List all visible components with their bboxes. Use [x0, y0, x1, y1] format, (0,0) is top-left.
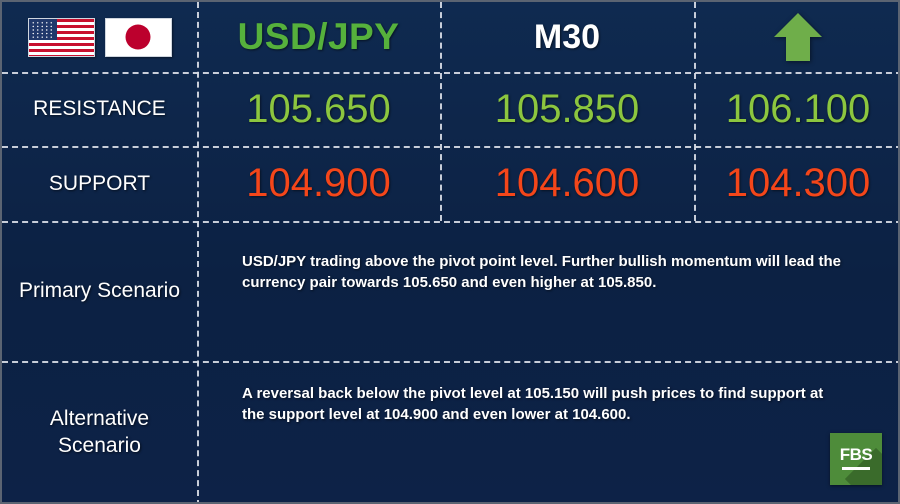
resistance-value: 106.100: [726, 87, 871, 132]
primary-scenario-label-cell: Primary Scenario: [2, 221, 197, 361]
support-value-cell-2: 104.600: [440, 146, 694, 221]
resistance-value: 105.850: [495, 87, 640, 132]
support-value: 104.600: [495, 161, 640, 206]
timeframe-label: M30: [534, 18, 600, 57]
support-value-cell-1: 104.900: [197, 146, 440, 221]
resistance-value-cell-1: 105.650: [197, 72, 440, 146]
primary-scenario-text: USD/JPY trading above the pivot point le…: [242, 251, 842, 294]
support-value-cell-3: 104.300: [694, 146, 900, 221]
support-value: 104.900: [246, 161, 391, 206]
japan-flag-icon: [105, 18, 172, 57]
currency-pair-title: USD/JPY: [238, 16, 400, 58]
japan-flag-disc: [126, 25, 151, 50]
alternative-scenario-label: Alternative Scenario: [2, 406, 197, 460]
flag-pair: [28, 18, 172, 57]
support-label: SUPPORT: [49, 171, 150, 197]
forex-signal-card: USD/JPY M30 RESISTANCE 105.650 105.850 1…: [0, 0, 900, 504]
alternative-scenario-label-cell: Alternative Scenario: [2, 361, 197, 504]
resistance-label: RESISTANCE: [33, 96, 166, 122]
trend-cell: [694, 2, 900, 72]
flags-cell: [2, 2, 197, 72]
currency-pair-cell: USD/JPY: [197, 2, 440, 72]
support-value: 104.300: [726, 161, 871, 206]
primary-scenario-label: Primary Scenario: [11, 278, 188, 305]
resistance-value-cell-2: 105.850: [440, 72, 694, 146]
alternative-scenario-text: A reversal back below the pivot level at…: [242, 383, 832, 426]
support-label-cell: SUPPORT: [2, 146, 197, 221]
fbs-logo-underline: [842, 467, 870, 470]
resistance-value-cell-3: 106.100: [694, 72, 900, 146]
united-states-flag-icon: [28, 18, 95, 57]
resistance-value: 105.650: [246, 87, 391, 132]
resistance-label-cell: RESISTANCE: [2, 72, 197, 146]
arrow-up-icon: [772, 11, 824, 63]
fbs-logo-text: FBS: [830, 445, 882, 465]
timeframe-cell: M30: [440, 2, 694, 72]
us-flag-canton: [29, 19, 57, 40]
fbs-logo: FBS: [830, 433, 882, 485]
